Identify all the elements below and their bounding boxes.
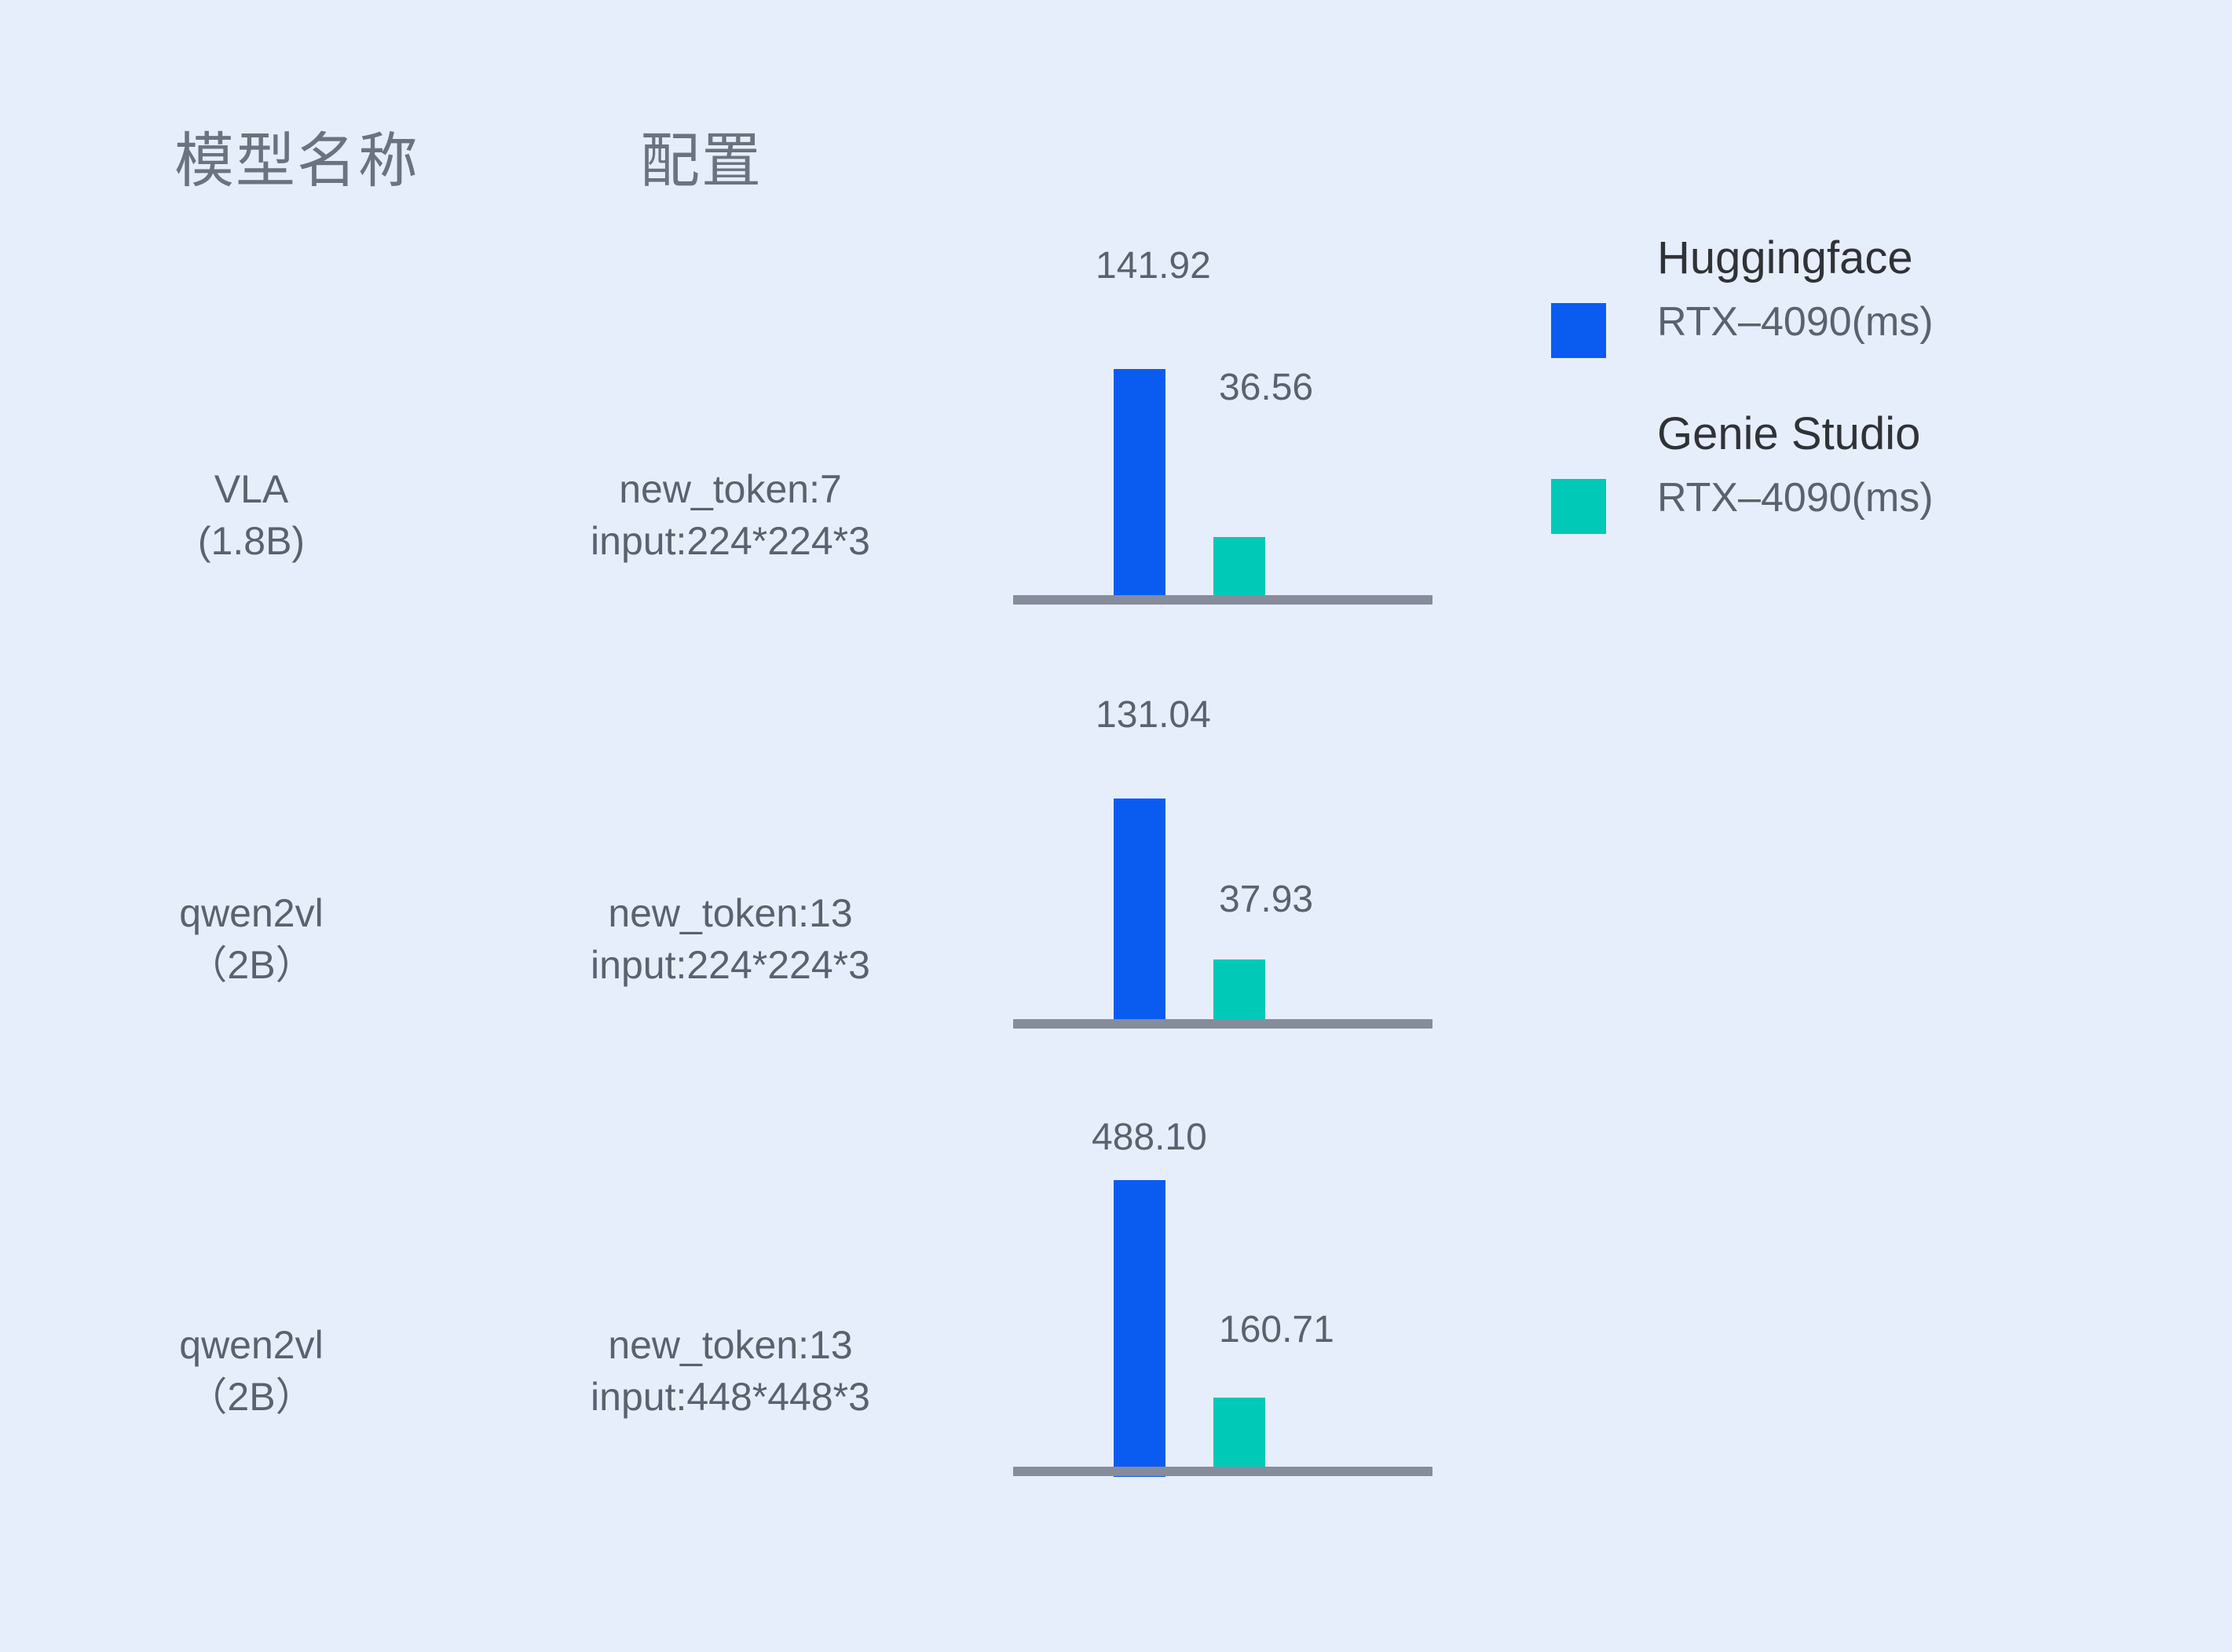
model-name-line1: qwen2vl	[110, 887, 393, 939]
model-config-label: new_token:7 input:224*224*3	[440, 463, 1021, 567]
model-config-line1: new_token:13	[440, 1319, 1021, 1371]
bar-huggingface[interactable]	[1114, 799, 1165, 1019]
legend-title: Genie Studio	[1657, 411, 2034, 457]
bar-genie-studio[interactable]	[1213, 959, 1265, 1019]
bar-value-label-genie-studio: 36.56	[1219, 369, 1313, 407]
model-name-label: qwen2vl （2B）	[110, 887, 393, 991]
model-name-label: qwen2vl （2B）	[110, 1319, 393, 1423]
axis-baseline	[1013, 595, 1433, 605]
blue-square-swatch-icon	[1551, 303, 1606, 358]
bar-value-label-huggingface: 131.04	[1096, 696, 1211, 734]
column-header-config: 配置	[640, 132, 763, 192]
chart-legend: Huggingface RTX–4090(ms) Genie Studio RT…	[1551, 236, 2038, 628]
legend-item-huggingface[interactable]: Huggingface RTX–4090(ms)	[1551, 236, 2038, 432]
model-config-line2: input:448*448*3	[440, 1371, 1021, 1423]
chart-canvas: 模型名称 配置 VLA (1.8B) new_token:7 input:224…	[0, 0, 2232, 1652]
model-name-line1: qwen2vl	[110, 1319, 393, 1371]
legend-item-text: Genie Studio RTX–4090(ms)	[1657, 411, 2034, 518]
model-config-label: new_token:13 input:224*224*3	[440, 887, 1021, 991]
bar-plot: 131.04 37.93	[1013, 644, 1433, 1029]
bar-genie-studio[interactable]	[1213, 1398, 1265, 1467]
legend-subtitle: RTX–4090(ms)	[1657, 302, 2034, 342]
bar-value-label-huggingface: 488.10	[1092, 1119, 1207, 1157]
bar-value-label-genie-studio: 160.71	[1219, 1311, 1334, 1349]
legend-item-genie-studio[interactable]: Genie Studio RTX–4090(ms)	[1551, 432, 2038, 628]
bar-value-label-genie-studio: 37.93	[1219, 881, 1313, 919]
model-name-line2: （2B）	[110, 1371, 393, 1423]
legend-item-text: Huggingface RTX–4090(ms)	[1657, 236, 2034, 342]
model-config-line2: input:224*224*3	[440, 939, 1021, 991]
bar-plot: 141.92 36.56	[1013, 220, 1433, 605]
model-config-line1: new_token:13	[440, 887, 1021, 939]
model-config-label: new_token:13 input:448*448*3	[440, 1319, 1021, 1423]
bar-plot: 488.10 160.71	[1013, 1080, 1433, 1476]
legend-subtitle: RTX–4090(ms)	[1657, 477, 2034, 518]
bar-genie-studio[interactable]	[1213, 537, 1265, 595]
model-name-line1: VLA	[110, 463, 393, 515]
bar-huggingface[interactable]	[1114, 369, 1165, 595]
model-config-line1: new_token:7	[440, 463, 1021, 515]
model-name-line2: （2B）	[110, 939, 393, 991]
bar-huggingface[interactable]	[1114, 1180, 1165, 1477]
axis-baseline	[1013, 1019, 1433, 1029]
axis-baseline	[1013, 1467, 1433, 1476]
model-config-line2: input:224*224*3	[440, 515, 1021, 567]
legend-title: Huggingface	[1657, 236, 2034, 281]
model-name-label: VLA (1.8B)	[110, 463, 393, 567]
model-name-line2: (1.8B)	[110, 515, 393, 567]
column-header-model-name: 模型名称	[174, 132, 419, 192]
bar-value-label-huggingface: 141.92	[1096, 247, 1211, 285]
teal-square-swatch-icon	[1551, 479, 1606, 534]
